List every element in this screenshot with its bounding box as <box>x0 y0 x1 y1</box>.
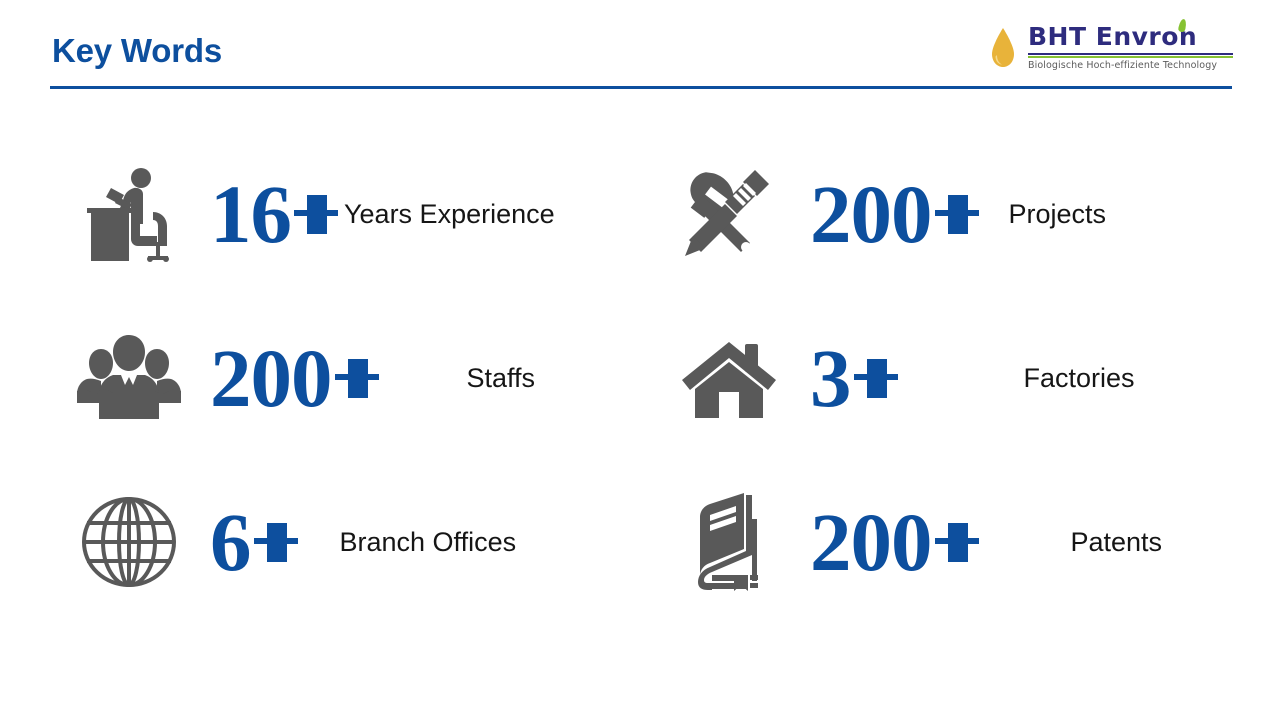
stat-item-projects: 200 Projects <box>670 134 1270 294</box>
stat-value-projects: 200 <box>810 173 979 256</box>
plus-icon <box>294 184 338 244</box>
title-divider <box>50 86 1232 89</box>
stat-number-text: 16 <box>210 173 291 256</box>
company-logo: BHT Envron Biologische Hoch-effiziente T… <box>990 22 1238 78</box>
plus-icon <box>854 348 898 408</box>
page-title: Key Words <box>52 32 222 70</box>
stat-number-text: 200 <box>810 173 932 256</box>
stat-label-staffs: Staffs <box>467 363 536 394</box>
wrench-screwdriver-icon <box>670 159 788 269</box>
plus-icon <box>335 348 379 408</box>
oil-drop-icon <box>990 28 1016 68</box>
stat-value-staffs: 200 <box>210 337 379 420</box>
stat-number-text: 6 <box>210 501 251 584</box>
stat-value-factories: 3 <box>810 337 898 420</box>
stat-value-years-experience: 16 <box>210 173 338 256</box>
slide-header: Key Words BHT Envron Biologische Hoch-ef… <box>0 0 1280 92</box>
certificate-book-icon <box>670 487 788 597</box>
stat-item-factories: 3 Factories <box>670 298 1270 458</box>
stat-label-patents: Patents <box>1071 527 1163 558</box>
stat-label-branch-offices: Branch Offices <box>340 527 517 558</box>
stat-item-branch-offices: 6 Branch Offices <box>70 462 670 622</box>
stat-label-factories: Factories <box>1024 363 1135 394</box>
logo-brand-text: BHT Envron <box>1028 22 1197 51</box>
globe-icon <box>70 487 188 597</box>
key-words-stats-grid: 16 Years Experience 200 <box>0 128 1280 638</box>
stat-item-patents: 200 Patents <box>670 462 1270 622</box>
plus-icon <box>254 512 298 572</box>
plus-icon <box>935 184 979 244</box>
people-group-icon <box>70 323 188 433</box>
stat-number-text: 3 <box>810 337 851 420</box>
logo-underline-green <box>1028 56 1233 58</box>
person-at-desk-icon <box>70 159 188 269</box>
logo-text-group: BHT Envron Biologische Hoch-effiziente T… <box>1028 22 1236 71</box>
stat-label-years-experience: Years Experience <box>344 199 555 230</box>
house-icon <box>670 323 788 433</box>
logo-brand-name: BHT Envron <box>1028 22 1236 52</box>
stat-value-branch-offices: 6 <box>210 501 298 584</box>
stat-label-projects: Projects <box>1009 199 1107 230</box>
stat-number-text: 200 <box>810 501 932 584</box>
stat-value-patents: 200 <box>810 501 979 584</box>
stat-item-years-experience: 16 Years Experience <box>70 134 670 294</box>
stat-item-staffs: 200 Staffs <box>70 298 670 458</box>
logo-underline-blue <box>1028 53 1233 55</box>
logo-tagline: Biologische Hoch-effiziente Technology <box>1028 60 1236 71</box>
plus-icon <box>935 512 979 572</box>
stat-number-text: 200 <box>210 337 332 420</box>
